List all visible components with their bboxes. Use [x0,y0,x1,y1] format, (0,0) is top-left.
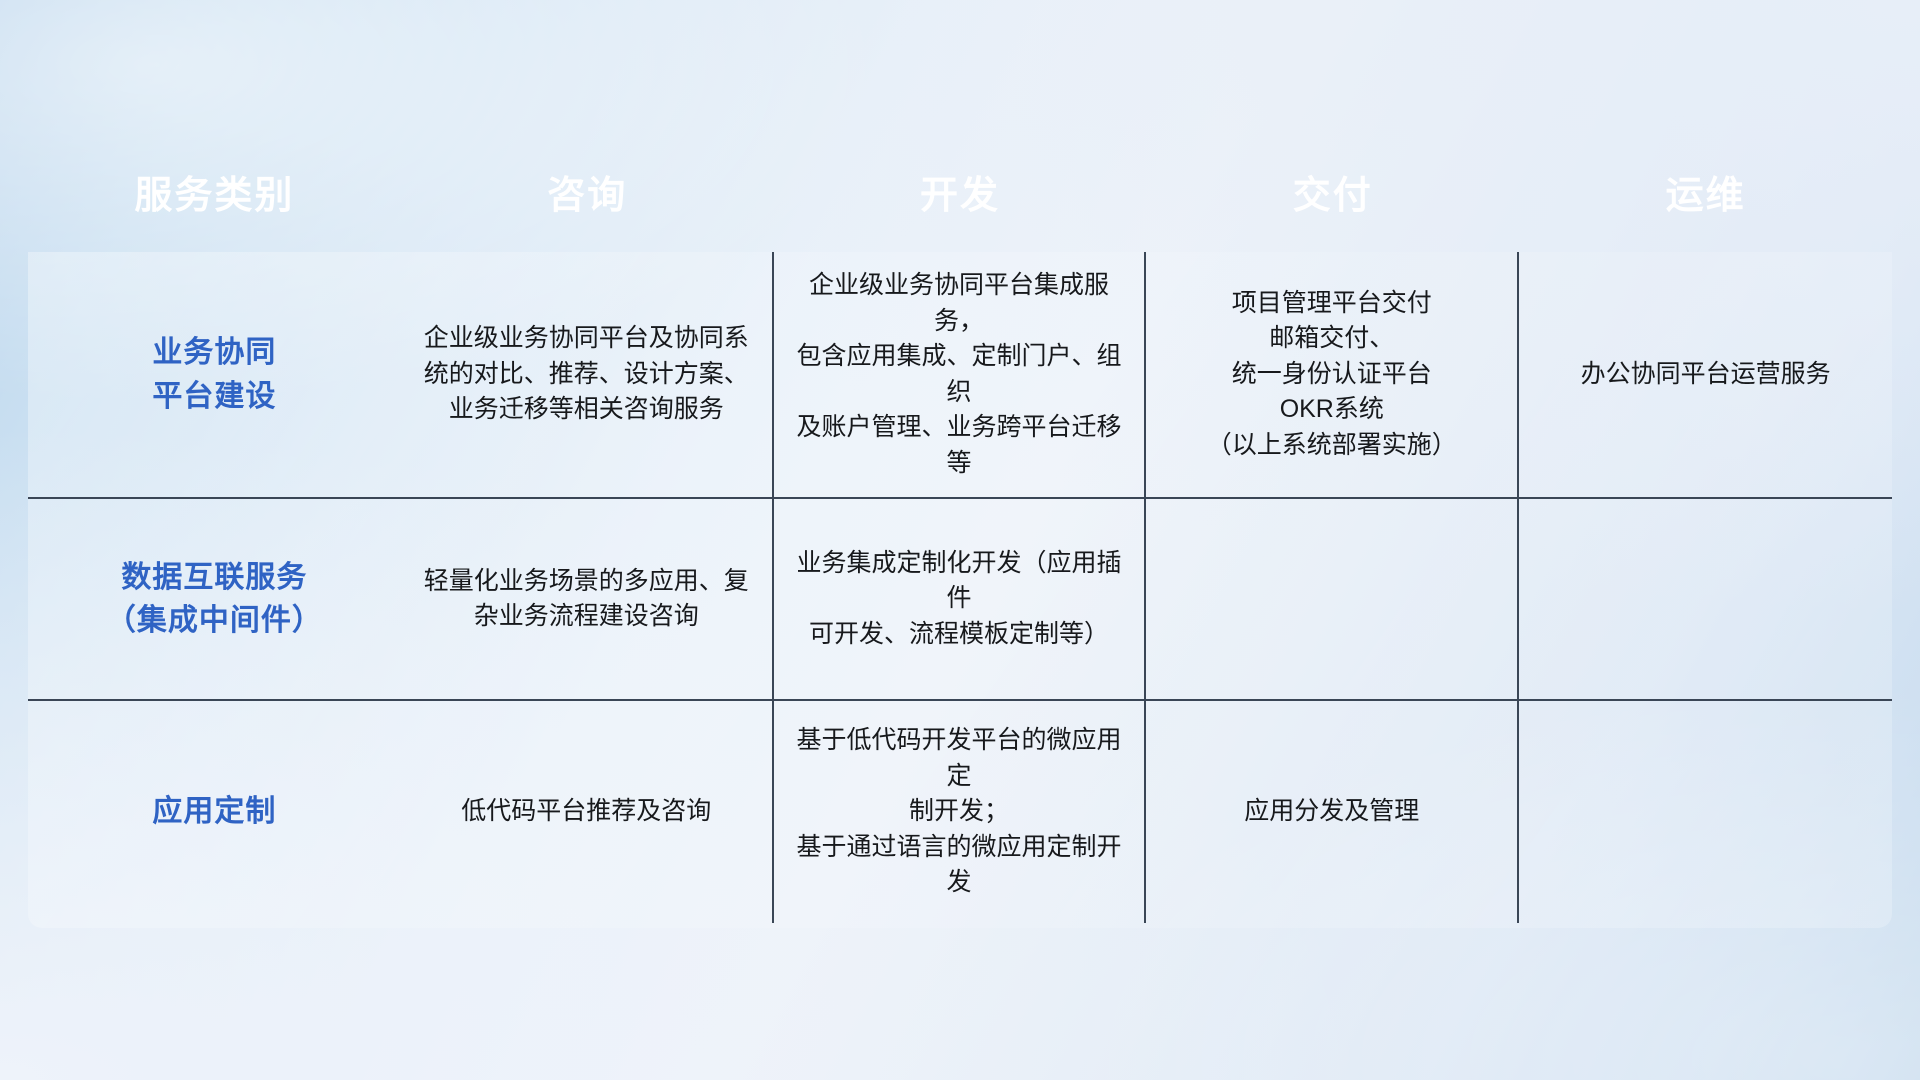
cell-consulting-row3: 低代码平台推荐及咨询 [401,701,774,923]
cell-delivery-row1: 项目管理平台交付 邮箱交付、 统一身份认证平台 OKR系统 （以上系统部署实施） [1146,252,1519,499]
table-header: 服务类别 咨询 开发 交付 运维 [28,130,1892,252]
cell-consulting-row2: 轻量化业务场景的多应用、复 杂业务流程建设咨询 [401,499,774,701]
cell-operations-row3 [1519,701,1892,923]
cell-development-row3: 基于低代码开发平台的微应用定 制开发； 基于通过语言的微应用定制开发 [774,701,1147,923]
table-row: 业务协同 平台建设 企业级业务协同平台及协同系 统的对比、推荐、设计方案、 业务… [28,252,1892,499]
slide-canvas: 服务类别 咨询 开发 交付 运维 业务协同 平台建设 企业级业务协同平台及协同系… [0,0,1920,1080]
table-row: 应用定制 低代码平台推荐及咨询 基于低代码开发平台的微应用定 制开发； 基于通过… [28,701,1892,923]
column-header-delivery: 交付 [1146,130,1519,252]
column-header-development: 开发 [774,130,1147,252]
column-header-consulting: 咨询 [401,130,774,252]
cell-operations-row1: 办公协同平台运营服务 [1519,252,1892,499]
cell-delivery-row3: 应用分发及管理 [1146,701,1519,923]
cell-delivery-row2 [1146,499,1519,701]
table-body: 业务协同 平台建设 企业级业务协同平台及协同系 统的对比、推荐、设计方案、 业务… [28,252,1892,923]
table-row: 数据互联服务 （集成中间件） 轻量化业务场景的多应用、复 杂业务流程建设咨询 业… [28,499,1892,701]
table-header-row: 服务类别 咨询 开发 交付 运维 [28,130,1892,252]
row-label-business-collaboration: 业务协同 平台建设 [28,252,401,499]
row-label-data-integration: 数据互联服务 （集成中间件） [28,499,401,701]
service-matrix-table: 服务类别 咨询 开发 交付 运维 业务协同 平台建设 企业级业务协同平台及协同系… [28,130,1892,923]
column-header-category: 服务类别 [28,130,401,252]
cell-operations-row2 [1519,499,1892,701]
cell-consulting-row1: 企业级业务协同平台及协同系 统的对比、推荐、设计方案、 业务迁移等相关咨询服务 [401,252,774,499]
row-label-app-customization: 应用定制 [28,701,401,923]
cell-development-row1: 企业级业务协同平台集成服务， 包含应用集成、定制门户、组织 及账户管理、业务跨平… [774,252,1147,499]
column-header-operations: 运维 [1519,130,1892,252]
cell-development-row2: 业务集成定制化开发（应用插件 可开发、流程模板定制等） [774,499,1147,701]
service-table: 服务类别 咨询 开发 交付 运维 业务协同 平台建设 企业级业务协同平台及协同系… [28,130,1892,923]
